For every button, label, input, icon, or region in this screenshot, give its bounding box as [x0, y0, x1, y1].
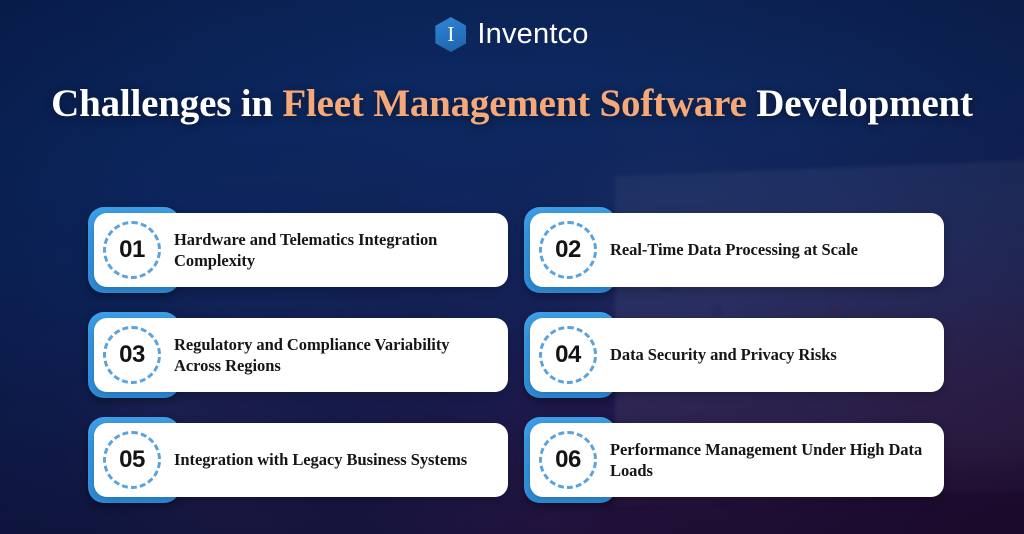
- number-badge: 03: [103, 326, 161, 384]
- challenge-card-grid: 01 Hardware and Telematics Integration C…: [88, 207, 944, 503]
- card-body: 01 Hardware and Telematics Integration C…: [94, 213, 508, 287]
- logo-letter: I: [447, 24, 454, 45]
- card-body: 05 Integration with Legacy Business Syst…: [94, 423, 508, 497]
- card-label: Data Security and Privacy Risks: [610, 344, 837, 365]
- infographic-poster: I Inventco Challenges in Fleet Managemen…: [0, 0, 1024, 534]
- challenge-card-01[interactable]: 01 Hardware and Telematics Integration C…: [88, 207, 508, 293]
- card-body: 03 Regulatory and Compliance Variability…: [94, 318, 508, 392]
- title-part-2: Development: [747, 82, 973, 125]
- card-number: 01: [119, 236, 145, 264]
- number-badge: 04: [539, 326, 597, 384]
- card-label: Real-Time Data Processing at Scale: [610, 239, 858, 260]
- brand-lockup: I Inventco: [0, 17, 1024, 52]
- card-body: 04 Data Security and Privacy Risks: [530, 318, 944, 392]
- card-number: 05: [119, 446, 145, 474]
- card-label: Hardware and Telematics Integration Comp…: [174, 229, 492, 272]
- page-title: Challenges in Fleet Management Software …: [0, 78, 1024, 129]
- card-label: Regulatory and Compliance Variability Ac…: [174, 334, 492, 377]
- challenge-card-04[interactable]: 04 Data Security and Privacy Risks: [524, 312, 944, 398]
- number-badge: 06: [539, 431, 597, 489]
- hexagon-i-logo-icon: I: [435, 17, 466, 52]
- poster-content: I Inventco Challenges in Fleet Managemen…: [0, 0, 1024, 534]
- challenge-card-03[interactable]: 03 Regulatory and Compliance Variability…: [88, 312, 508, 398]
- card-number: 04: [555, 341, 581, 369]
- title-part-1: Challenges in: [51, 82, 282, 125]
- number-badge: 02: [539, 221, 597, 279]
- number-badge: 05: [103, 431, 161, 489]
- card-number: 02: [555, 236, 581, 264]
- brand-name: Inventco: [477, 18, 588, 51]
- card-number: 03: [119, 341, 145, 369]
- card-number: 06: [555, 446, 581, 474]
- card-body: 06 Performance Management Under High Dat…: [530, 423, 944, 497]
- card-label: Performance Management Under High Data L…: [610, 439, 928, 482]
- card-body: 02 Real-Time Data Processing at Scale: [530, 213, 944, 287]
- challenge-card-06[interactable]: 06 Performance Management Under High Dat…: [524, 417, 944, 503]
- title-highlight: Fleet Management Software: [282, 82, 746, 125]
- challenge-card-02[interactable]: 02 Real-Time Data Processing at Scale: [524, 207, 944, 293]
- challenge-card-05[interactable]: 05 Integration with Legacy Business Syst…: [88, 417, 508, 503]
- card-label: Integration with Legacy Business Systems: [174, 449, 467, 470]
- number-badge: 01: [103, 221, 161, 279]
